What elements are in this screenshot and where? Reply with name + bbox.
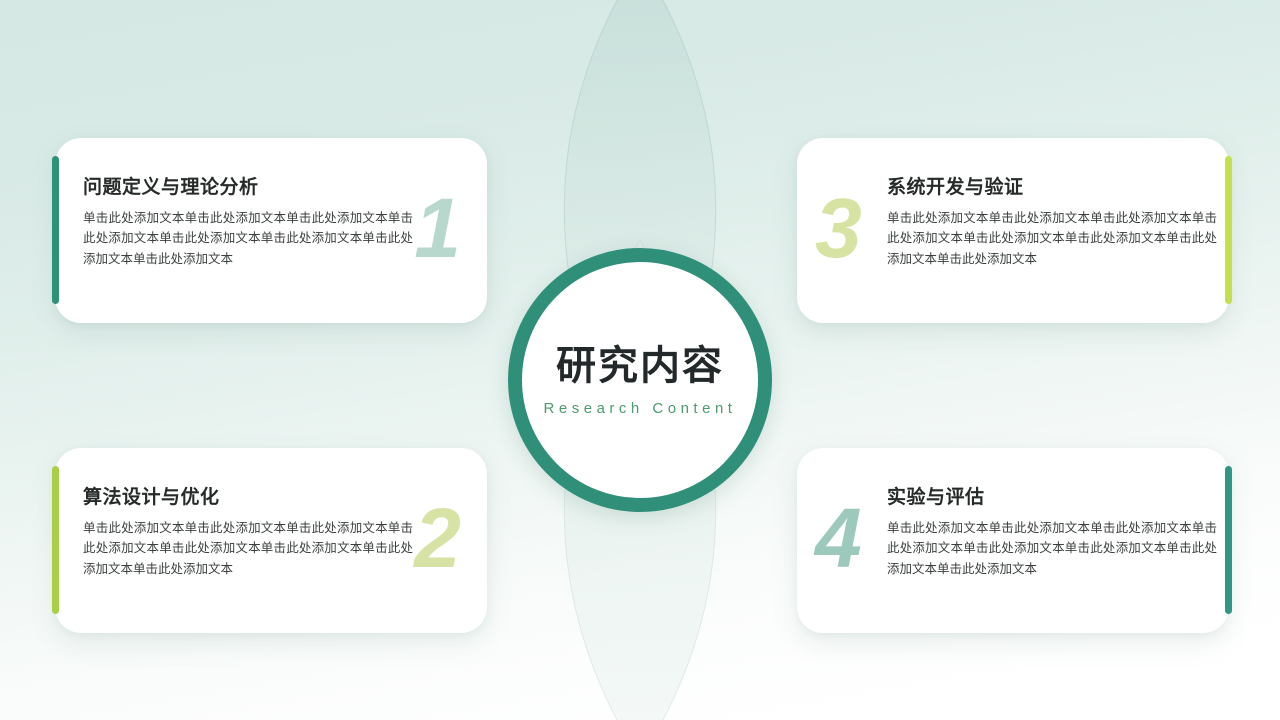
- center-circle-badge[interactable]: 研究内容 Research Content: [508, 248, 772, 512]
- slide-canvas: 1 问题定义与理论分析 单击此处添加文本单击此处添加文本单击此处添加文本单击此处…: [0, 0, 1280, 720]
- content-card-4[interactable]: 4 实验与评估 单击此处添加文本单击此处添加文本单击此处添加文本单击此处添加文本…: [797, 448, 1229, 633]
- card-accent-bar-2: [52, 466, 59, 614]
- card-accent-bar-1: [52, 156, 59, 304]
- card-body-3: 系统开发与验证 单击此处添加文本单击此处添加文本单击此处添加文本单击此处添加文本…: [887, 172, 1217, 269]
- card-number-2: 2: [414, 496, 459, 580]
- card-description-1: 单击此处添加文本单击此处添加文本单击此处添加文本单击此处添加文本单击此处添加文本…: [83, 208, 413, 269]
- card-title-2: 算法设计与优化: [83, 482, 413, 509]
- card-body-4: 实验与评估 单击此处添加文本单击此处添加文本单击此处添加文本单击此处添加文本单击…: [887, 482, 1217, 579]
- center-subtitle: Research Content: [544, 400, 737, 417]
- card-description-4: 单击此处添加文本单击此处添加文本单击此处添加文本单击此处添加文本单击此处添加文本…: [887, 518, 1217, 579]
- card-number-3: 3: [815, 186, 860, 270]
- content-card-2[interactable]: 2 算法设计与优化 单击此处添加文本单击此处添加文本单击此处添加文本单击此处添加…: [55, 448, 487, 633]
- content-card-1[interactable]: 1 问题定义与理论分析 单击此处添加文本单击此处添加文本单击此处添加文本单击此处…: [55, 138, 487, 323]
- card-description-2: 单击此处添加文本单击此处添加文本单击此处添加文本单击此处添加文本单击此处添加文本…: [83, 518, 413, 579]
- card-accent-bar-3: [1225, 156, 1232, 304]
- card-number-1: 1: [414, 186, 459, 270]
- card-body-2: 算法设计与优化 单击此处添加文本单击此处添加文本单击此处添加文本单击此处添加文本…: [83, 482, 413, 579]
- center-title: 研究内容: [556, 344, 724, 388]
- card-title-4: 实验与评估: [887, 482, 1217, 509]
- content-card-3[interactable]: 3 系统开发与验证 单击此处添加文本单击此处添加文本单击此处添加文本单击此处添加…: [797, 138, 1229, 323]
- card-title-3: 系统开发与验证: [887, 172, 1217, 199]
- card-accent-bar-4: [1225, 466, 1232, 614]
- card-description-3: 单击此处添加文本单击此处添加文本单击此处添加文本单击此处添加文本单击此处添加文本…: [887, 208, 1217, 269]
- card-body-1: 问题定义与理论分析 单击此处添加文本单击此处添加文本单击此处添加文本单击此处添加…: [83, 172, 413, 269]
- card-title-1: 问题定义与理论分析: [83, 172, 413, 199]
- card-number-4: 4: [815, 496, 860, 580]
